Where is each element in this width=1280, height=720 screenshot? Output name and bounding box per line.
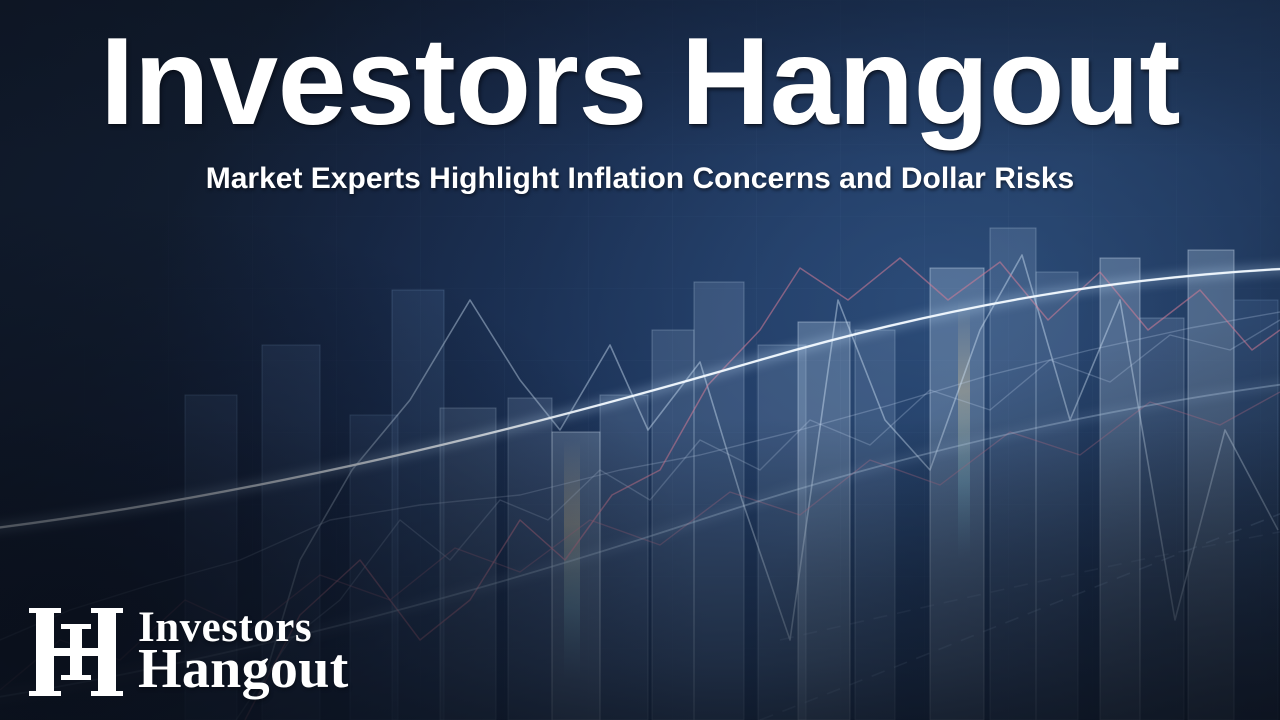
logo-line-hangout: Hangout <box>138 644 349 696</box>
page-title: Investors Hangout <box>0 0 1280 147</box>
investors-hangout-monogram-icon <box>28 602 124 702</box>
logo-lockup[interactable]: Investors Hangout <box>28 602 349 702</box>
logo-wordmark: Investors Hangout <box>138 608 349 695</box>
headline-block: Investors Hangout Market Experts Highlig… <box>0 0 1280 197</box>
promo-banner: Investors Hangout Market Experts Highlig… <box>0 0 1280 720</box>
page-subtitle: Market Experts Highlight Inflation Conce… <box>0 147 1280 197</box>
chart-glow-column-2 <box>958 300 970 560</box>
